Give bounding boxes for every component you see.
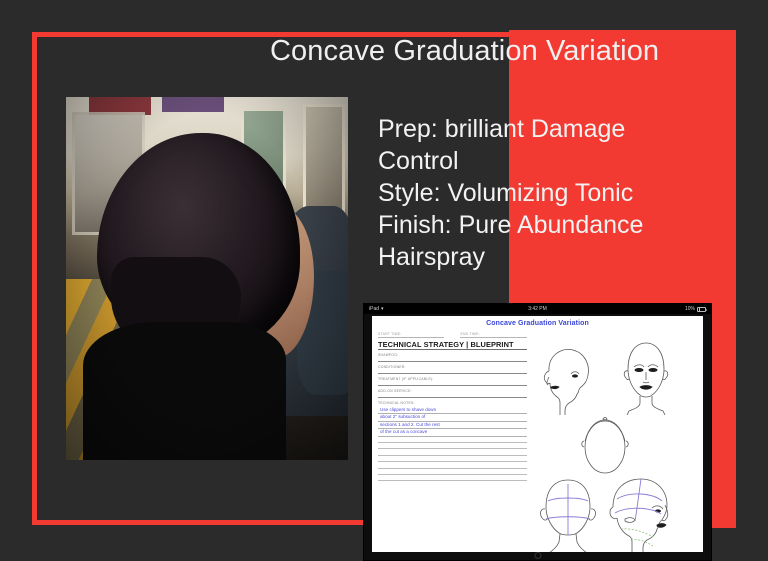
field-shampoo-line [378,361,527,362]
form-title: Concave Graduation Variation [372,316,703,327]
field-technical-notes[interactable]: TECHNICAL NOTES: [378,401,527,405]
form-left-column: START TIME: END TIME: TECHNICAL STRATEGY… [372,327,531,547]
head-back-view-sectioned-icon [533,475,603,552]
form-heading: TECHNICAL STRATEGY | BLUEPRINT [378,340,527,349]
note-line-4: of the cut as a concave [378,429,527,436]
ipad-screenshot: iPad ▾ 3:42 PM 10% Concave Graduation Va… [363,303,712,561]
slide-canvas: Concave Graduation Variation Prep: brill… [0,0,768,561]
product-list: Prep: brilliant Damage Control Style: Vo… [378,113,678,273]
field-treatment-label: TREATMENT (IF APPLICABLE): [378,377,527,381]
field-conditioner[interactable]: CONDITIONER: [378,365,527,374]
product-line-2: Control [378,145,678,177]
end-time-rule [460,337,526,338]
blank-note-line[interactable] [378,475,527,481]
note-line-2: about 2" subsuction of [378,414,527,421]
field-addon-service[interactable]: ADD-ON SERVICE: [378,389,527,398]
battery-icon [697,307,706,312]
page-title: Concave Graduation Variation [270,32,730,70]
end-time-field[interactable]: END TIME: [460,332,526,338]
technical-notes-content[interactable]: Use clippers to shave down about 2" subs… [378,407,527,481]
note-line-1: Use clippers to shave down [378,407,527,414]
product-line-1: Prep: brilliant Damage [378,113,678,145]
start-time-label: START TIME: [378,332,444,336]
note-line-3: sections 1 and 2. Cut the rest [378,422,527,429]
blueprint-form-page[interactable]: Concave Graduation Variation START TIME:… [372,316,703,552]
product-line-5: Hairspray [378,241,678,273]
product-line-3: Style: Volumizing Tonic [378,177,678,209]
ipad-home-button[interactable] [534,552,541,559]
status-clock: 3:42 PM [364,304,711,314]
heading-rule [378,349,527,350]
field-addon-label: ADD-ON SERVICE: [378,389,527,393]
field-treatment-line [378,385,527,386]
salon-haircut-photo [66,97,348,460]
product-line-4: Finish: Pure Abundance [378,209,678,241]
field-conditioner-label: CONDITIONER: [378,365,527,369]
head-profile-left-view-icon [535,341,597,415]
field-addon-line [378,397,527,398]
form-diagram-column [531,327,703,547]
field-treatment[interactable]: TREATMENT (IF APPLICABLE): [378,377,527,386]
start-time-field[interactable]: START TIME: [378,332,444,338]
field-shampoo[interactable]: SHAMPOO: [378,353,527,362]
time-row: START TIME: END TIME: [378,332,527,338]
head-front-view-icon [615,339,677,415]
end-time-label: END TIME: [460,332,526,336]
head-top-crown-view-icon [575,415,635,477]
ipad-status-bar: iPad ▾ 3:42 PM 10% [364,304,711,314]
field-conditioner-line [378,373,527,374]
form-columns: START TIME: END TIME: TECHNICAL STRATEGY… [372,327,703,547]
start-time-rule [378,337,444,338]
photo-vignette [66,97,348,460]
field-shampoo-label: SHAMPOO: [378,353,527,357]
head-side-view-sectioned-icon [605,473,683,552]
field-notes-label: TECHNICAL NOTES: [378,401,527,405]
